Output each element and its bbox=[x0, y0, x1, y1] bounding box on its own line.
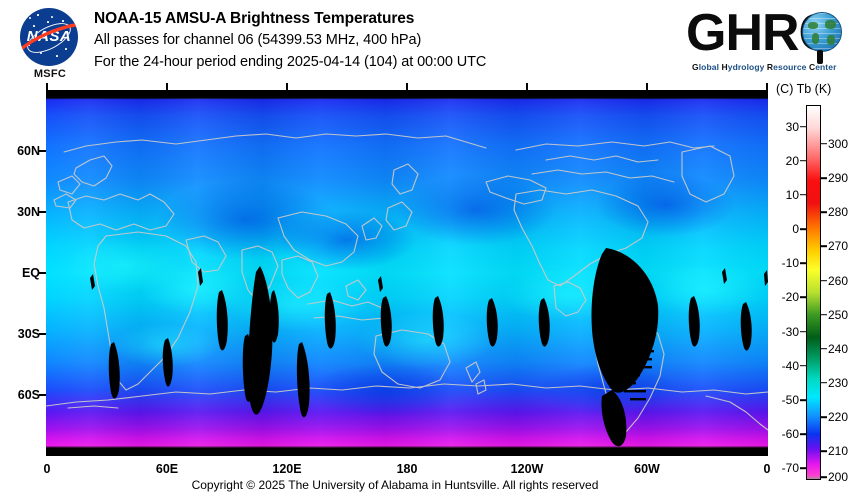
page-subtitle-channel: All passes for channel 06 (54399.53 MHz,… bbox=[94, 29, 614, 51]
cb-c-30: 30 bbox=[786, 120, 799, 134]
cb-k-240: 240 bbox=[828, 342, 848, 356]
page-subtitle-period: For the 24-hour period ending 2025-04-14… bbox=[94, 51, 614, 73]
cb-c-m40: -40 bbox=[782, 359, 799, 373]
lon-label-120w: 120W bbox=[511, 462, 544, 476]
header: NASA MSFC NOAA-15 AMSU-A Brightness Temp… bbox=[0, 0, 854, 88]
cb-c-20: 20 bbox=[786, 154, 799, 168]
page-title: NOAA-15 AMSU-A Brightness Temperatures bbox=[94, 8, 614, 29]
lat-tick-60s bbox=[39, 394, 46, 396]
lon-label-60e: 60E bbox=[156, 462, 178, 476]
cb-k-300: 300 bbox=[828, 137, 848, 151]
lon-label-60w: 60W bbox=[634, 462, 660, 476]
lat-label-30s: 30S bbox=[18, 327, 40, 341]
map-plot-area[interactable]: 60N 30N EQ 30S 60S 0 60E 120E 180 120W 6… bbox=[46, 90, 768, 456]
brightness-temperature-heatmap bbox=[46, 90, 768, 456]
lon-tick-360 bbox=[766, 83, 768, 90]
globe-gridlines bbox=[803, 13, 841, 51]
cb-c-m20: -20 bbox=[782, 290, 799, 304]
lat-tick-30n bbox=[39, 211, 46, 213]
ghrc-tagline: Global Hydrology Resource Center bbox=[692, 62, 848, 72]
colorbar-gradient bbox=[807, 106, 820, 479]
title-block: NOAA-15 AMSU-A Brightness Temperatures A… bbox=[94, 8, 614, 73]
lon-tick-120w bbox=[526, 83, 528, 90]
colorbar: (C) Tb (K) 30 20 10 0 -10 -20 -30 - bbox=[776, 82, 854, 492]
lat-label-eq: EQ bbox=[22, 266, 40, 280]
lat-tick-60n bbox=[39, 150, 46, 152]
colorbar-header: (C) Tb (K) bbox=[776, 82, 854, 96]
cb-k-270: 270 bbox=[828, 239, 848, 253]
lon-tick-180 bbox=[406, 83, 408, 90]
cb-c-m30: -30 bbox=[782, 325, 799, 339]
lat-label-30n: 30N bbox=[17, 205, 40, 219]
cb-k-210: 210 bbox=[828, 444, 848, 458]
nasa-swoosh-icon bbox=[20, 24, 78, 52]
cb-k-260: 260 bbox=[828, 274, 848, 288]
ghrc-logo: GHRC Global Hydrology Resource Center bbox=[686, 6, 848, 78]
lat-tick-30s bbox=[39, 333, 46, 335]
cb-c-10: 10 bbox=[786, 188, 799, 202]
lat-label-60s: 60S bbox=[18, 388, 40, 402]
cb-k-220: 220 bbox=[828, 410, 848, 424]
cb-k-290: 290 bbox=[828, 171, 848, 185]
cb-c-0: 0 bbox=[792, 222, 799, 236]
lon-tick-120e bbox=[286, 83, 288, 90]
globe-icon bbox=[802, 12, 842, 52]
lat-tick-eq bbox=[39, 272, 46, 274]
lon-tick-60e bbox=[166, 83, 168, 90]
cb-k-230: 230 bbox=[828, 376, 848, 390]
screenshot-root: NASA MSFC NOAA-15 AMSU-A Brightness Temp… bbox=[0, 0, 854, 502]
lon-label-120e: 120E bbox=[272, 462, 301, 476]
copyright-notice: Copyright © 2025 The University of Alaba… bbox=[0, 478, 790, 492]
lon-label-0: 0 bbox=[44, 462, 51, 476]
lon-label-360: 0 bbox=[764, 462, 771, 476]
cb-k-250: 250 bbox=[828, 308, 848, 322]
cb-k-280: 280 bbox=[828, 205, 848, 219]
lon-tick-60w bbox=[646, 83, 648, 90]
nasa-insignia-icon: NASA bbox=[20, 8, 78, 66]
lat-label-60n: 60N bbox=[17, 144, 40, 158]
lon-label-180: 180 bbox=[397, 462, 418, 476]
cb-c-m10: -10 bbox=[782, 256, 799, 270]
colorbar-strip: 30 20 10 0 -10 -20 -30 -40 -50 -60 bbox=[806, 105, 821, 480]
nasa-center-label: MSFC bbox=[14, 68, 86, 80]
cb-c-m50: -50 bbox=[782, 393, 799, 407]
nasa-msfc-logo: NASA MSFC bbox=[14, 6, 86, 84]
cb-c-m60: -60 bbox=[782, 427, 799, 441]
cb-c-m70: -70 bbox=[782, 461, 799, 475]
lon-tick-0 bbox=[46, 83, 48, 90]
cb-k-200: 200 bbox=[828, 470, 848, 484]
